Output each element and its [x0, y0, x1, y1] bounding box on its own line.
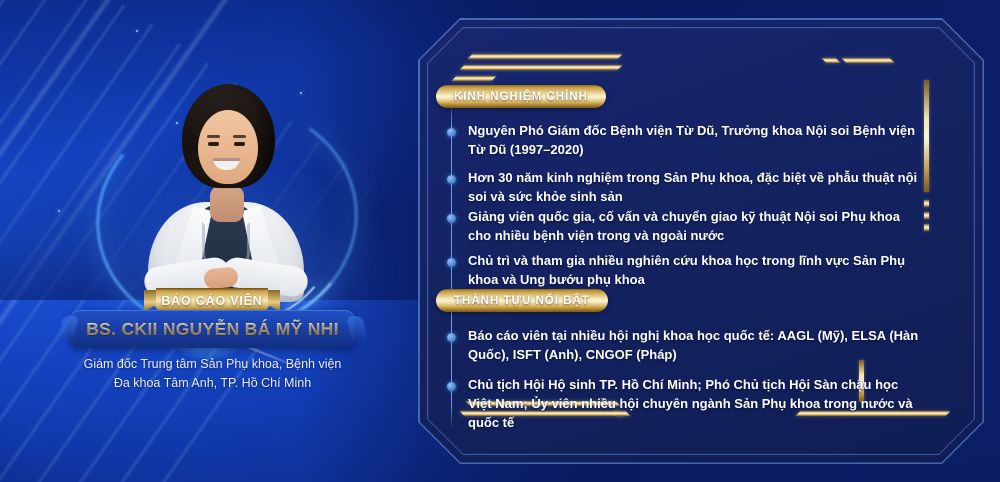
- bullet-dot: [447, 214, 456, 223]
- bullet-dot: [447, 175, 456, 184]
- eyebrow-right: [233, 135, 246, 138]
- bullet-dot: [447, 333, 456, 342]
- bullet-dot: [447, 382, 456, 391]
- bullet-item: Báo cáo viên tại nhiều hội nghị khoa học…: [468, 326, 920, 364]
- speaker-title-line1: Giám đốc Trung tâm Sản Phụ khoa, Bệnh vi…: [40, 355, 385, 374]
- eye-left: [208, 142, 219, 146]
- speaker-title-line2: Đa khoa Tâm Anh, TP. Hồ Chí Minh: [40, 374, 385, 393]
- section-badge-experience: KINH NGHIỆM CHÍNH: [436, 85, 606, 108]
- gold-accent-bar-vertical: [924, 200, 929, 207]
- section-badge-achievements: THÀNH TỰU NỔI BẬT: [436, 289, 608, 312]
- speaker-portrait: [120, 48, 330, 298]
- gold-accent-bar: [842, 58, 895, 63]
- face: [198, 110, 258, 184]
- speaker-name: BS. CKII NGUYỄN BÁ MỸ NHI: [86, 319, 339, 340]
- bullet-item: Hơn 30 năm kinh nghiệm trong Sản Phụ kho…: [468, 168, 920, 206]
- bullet-dot: [447, 258, 456, 267]
- gold-accent-bar: [460, 65, 623, 70]
- section-badge-label: THÀNH TỰU NỔI BẬT: [454, 295, 590, 307]
- eyebrow-left: [207, 135, 220, 138]
- bullet-dot: [447, 128, 456, 137]
- sparkle-icon: [136, 30, 138, 32]
- portrait-illustration: [142, 54, 310, 300]
- bullet-item: Nguyên Phó Giám đốc Bệnh viện Từ Dũ, Trư…: [468, 121, 920, 159]
- sparkle-icon: [58, 210, 60, 212]
- speaker-profile-slide: BÁO CÁO VIÊN BS. CKII NGUYỄN BÁ MỸ NHI G…: [0, 0, 1000, 482]
- speaker-title: Giám đốc Trung tâm Sản Phụ khoa, Bệnh vi…: [40, 355, 385, 394]
- gold-accent-bar-vertical: [924, 224, 929, 231]
- section-badge-label: KINH NGHIỆM CHÍNH: [454, 91, 588, 103]
- gold-accent-bar-vertical: [924, 212, 929, 219]
- bullet-item: Chủ trì và tham gia nhiều nghiên cứu kho…: [468, 251, 920, 289]
- bullet-item: Chủ tịch Hội Hộ sinh TP. Hồ Chí Minh; Ph…: [468, 375, 920, 433]
- ribbon-label: BÁO CÁO VIÊN: [161, 294, 262, 308]
- bullet-item: Giảng viên quốc gia, cố vấn và chuyển gi…: [468, 207, 920, 245]
- speaker-name-plate: BS. CKII NGUYỄN BÁ MỸ NHI: [70, 310, 355, 348]
- gold-accent-bar: [452, 76, 497, 81]
- gold-accent-bar-vertical: [924, 80, 929, 192]
- gold-accent-bar: [468, 54, 623, 59]
- eye-right: [234, 142, 245, 146]
